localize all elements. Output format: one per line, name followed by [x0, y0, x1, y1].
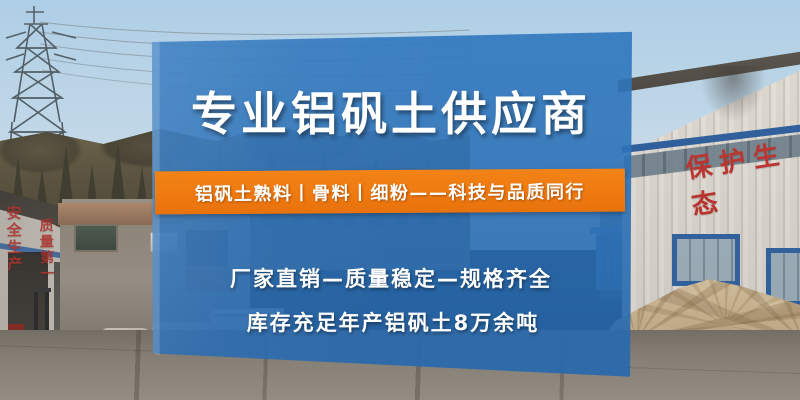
center-window: [74, 224, 118, 252]
left-building-sign-2: 质量第一: [35, 218, 56, 282]
orange-tagline-text: 铝矾土熟料丨骨料丨细粉——科技与品质同行: [195, 177, 585, 205]
headline-title: 专业铝矾土供应商: [150, 78, 632, 144]
roof-soot-stain: [700, 66, 766, 122]
promo-banner: 安全生产 质量第一: [0, 0, 800, 400]
orange-tagline-bar: 铝矾土熟料丨骨料丨细粉——科技与品质同行: [155, 169, 625, 215]
right-window: [672, 234, 740, 286]
supporting-line-1: 厂家直销—质量稳定—规格齐全: [150, 263, 632, 293]
left-building-sign-1: 安全生产: [3, 205, 25, 273]
supporting-line-2: 库存充足年产铝矾土8万余吨: [152, 307, 634, 337]
